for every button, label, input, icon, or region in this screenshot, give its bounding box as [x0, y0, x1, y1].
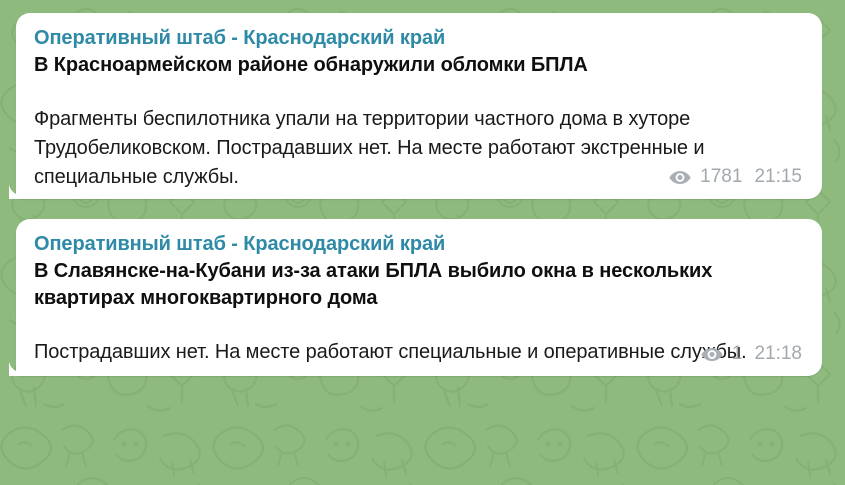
view-count: 1: [732, 343, 743, 365]
message-list: Оперативный штаб - Краснодарский край В …: [0, 0, 845, 376]
eye-icon: [701, 347, 723, 362]
message-timestamp: 21:18: [754, 343, 802, 365]
channel-title[interactable]: Оперативный штаб - Краснодарский край: [34, 26, 804, 51]
eye-icon: [669, 170, 691, 185]
message-row: Оперативный штаб - Краснодарский край В …: [0, 13, 845, 199]
message-row: Оперативный штаб - Краснодарский край В …: [0, 219, 845, 376]
message-bubble[interactable]: Оперативный штаб - Краснодарский край В …: [16, 219, 822, 376]
message-headline: В Славянске-на-Кубани из-за атаки БПЛА в…: [34, 258, 804, 312]
channel-title[interactable]: Оперативный штаб - Краснодарский край: [34, 232, 804, 257]
message-headline: В Красноармейском районе обнаружили обло…: [34, 52, 804, 79]
view-count: 1781: [700, 166, 742, 188]
chat-view: Оперативный штаб - Краснодарский край В …: [0, 0, 845, 485]
message-bubble[interactable]: Оперативный штаб - Краснодарский край В …: [16, 13, 822, 199]
message-body: Пострадавших нет. На месте работают спец…: [34, 338, 804, 367]
message-timestamp: 21:15: [754, 166, 802, 188]
